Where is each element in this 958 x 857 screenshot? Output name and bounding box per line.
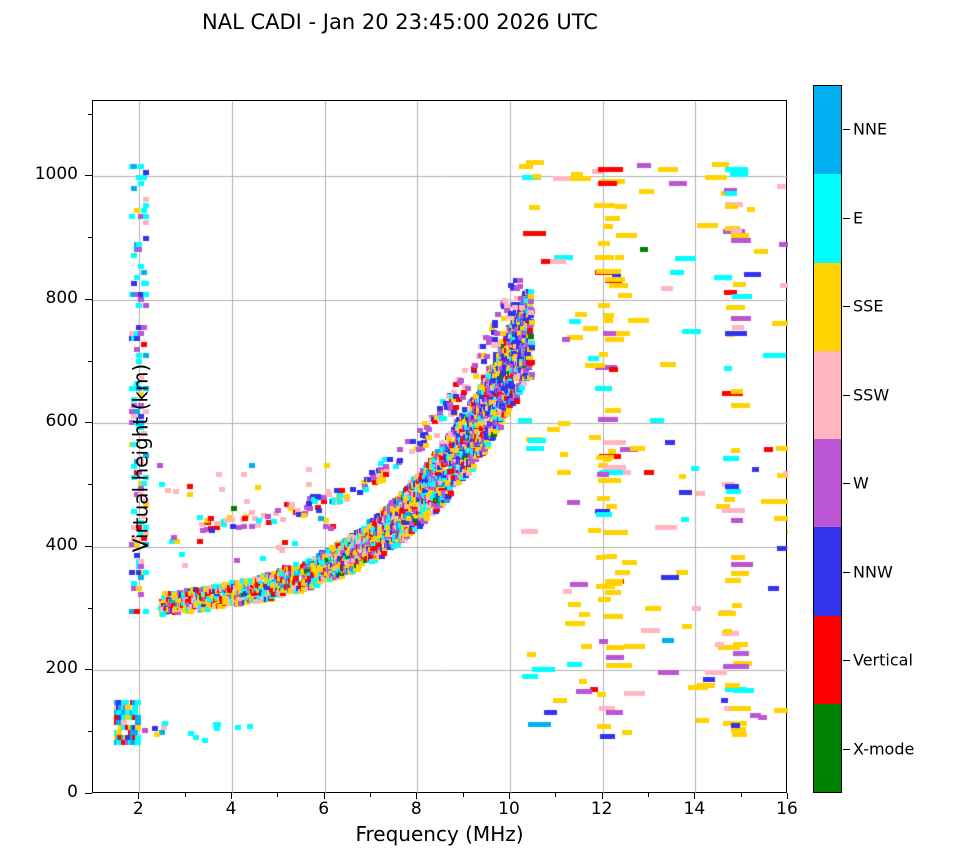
y-tick-mark [85, 422, 92, 423]
x-tick-mark-minor [277, 793, 278, 797]
colorbar-label-nne: NNE [853, 120, 887, 139]
plot-area[interactable] [92, 100, 787, 793]
x-tick-label: 14 [664, 799, 724, 819]
ionogram-scatter-canvas [93, 101, 788, 794]
colorbar-segment-nnw[interactable] [814, 527, 841, 615]
colorbar-label-x-mode: X-mode [853, 739, 914, 758]
colorbar-segment-w[interactable] [814, 439, 841, 527]
y-tick-label: 600 [18, 411, 78, 431]
x-tick-mark-minor [648, 793, 649, 797]
y-tick-label: 400 [18, 535, 78, 555]
x-tick-mark-minor [370, 793, 371, 797]
x-tick-label: 4 [201, 799, 261, 819]
y-tick-label: 200 [18, 658, 78, 678]
colorbar-tick [843, 572, 850, 573]
colorbar-label-ssw: SSW [853, 385, 889, 404]
x-tick-label: 16 [757, 799, 817, 819]
y-tick-mark-minor [88, 731, 92, 732]
x-tick-mark-minor [741, 793, 742, 797]
x-tick-mark-minor [185, 793, 186, 797]
y-tick-mark-minor [88, 114, 92, 115]
x-tick-label: 12 [572, 799, 632, 819]
y-tick-mark-minor [88, 484, 92, 485]
colorbar-label-w: W [853, 474, 869, 493]
colorbar-segment-nne[interactable] [814, 86, 841, 174]
x-tick-label: 2 [108, 799, 168, 819]
x-axis-label: Frequency (MHz) [92, 822, 787, 846]
x-tick-label: 6 [294, 799, 354, 819]
colorbar-tick [843, 218, 850, 219]
azimuth-colorbar[interactable] [813, 85, 842, 793]
y-tick-label: 0 [18, 782, 78, 802]
y-tick-mark-minor [88, 361, 92, 362]
x-tick-label: 10 [479, 799, 539, 819]
x-tick-label: 8 [386, 799, 446, 819]
colorbar-segment-ssw[interactable] [814, 351, 841, 439]
colorbar-tick [843, 129, 850, 130]
page-title: NAL CADI - Jan 20 23:45:00 2026 UTC [0, 10, 800, 34]
colorbar-segment-e[interactable] [814, 174, 841, 262]
colorbar-segment-x-mode[interactable] [814, 704, 841, 792]
y-tick-mark [85, 175, 92, 176]
colorbar-segment-vertical[interactable] [814, 616, 841, 704]
colorbar-tick [843, 306, 850, 307]
y-tick-mark-minor [88, 608, 92, 609]
x-tick-mark-minor [555, 793, 556, 797]
colorbar-segment-sse[interactable] [814, 263, 841, 351]
y-tick-mark [85, 299, 92, 300]
y-tick-mark-minor [88, 237, 92, 238]
colorbar-tick [843, 749, 850, 750]
colorbar-label-e: E [853, 208, 863, 227]
colorbar-label-nnw: NNW [853, 562, 893, 581]
y-tick-label: 1000 [18, 164, 78, 184]
y-tick-mark [85, 546, 92, 547]
colorbar-tick [843, 483, 850, 484]
y-tick-mark [85, 793, 92, 794]
y-axis-label: Virtual height (km) [129, 112, 153, 805]
colorbar-label-vertical: Vertical [853, 651, 913, 670]
ionogram-figure: NAL CADI - Jan 20 23:45:00 2026 UTC Freq… [0, 0, 958, 857]
colorbar-tick [843, 395, 850, 396]
y-tick-mark [85, 669, 92, 670]
colorbar-label-sse: SSE [853, 297, 883, 316]
x-tick-mark-minor [463, 793, 464, 797]
colorbar-tick [843, 660, 850, 661]
y-tick-label: 800 [18, 288, 78, 308]
